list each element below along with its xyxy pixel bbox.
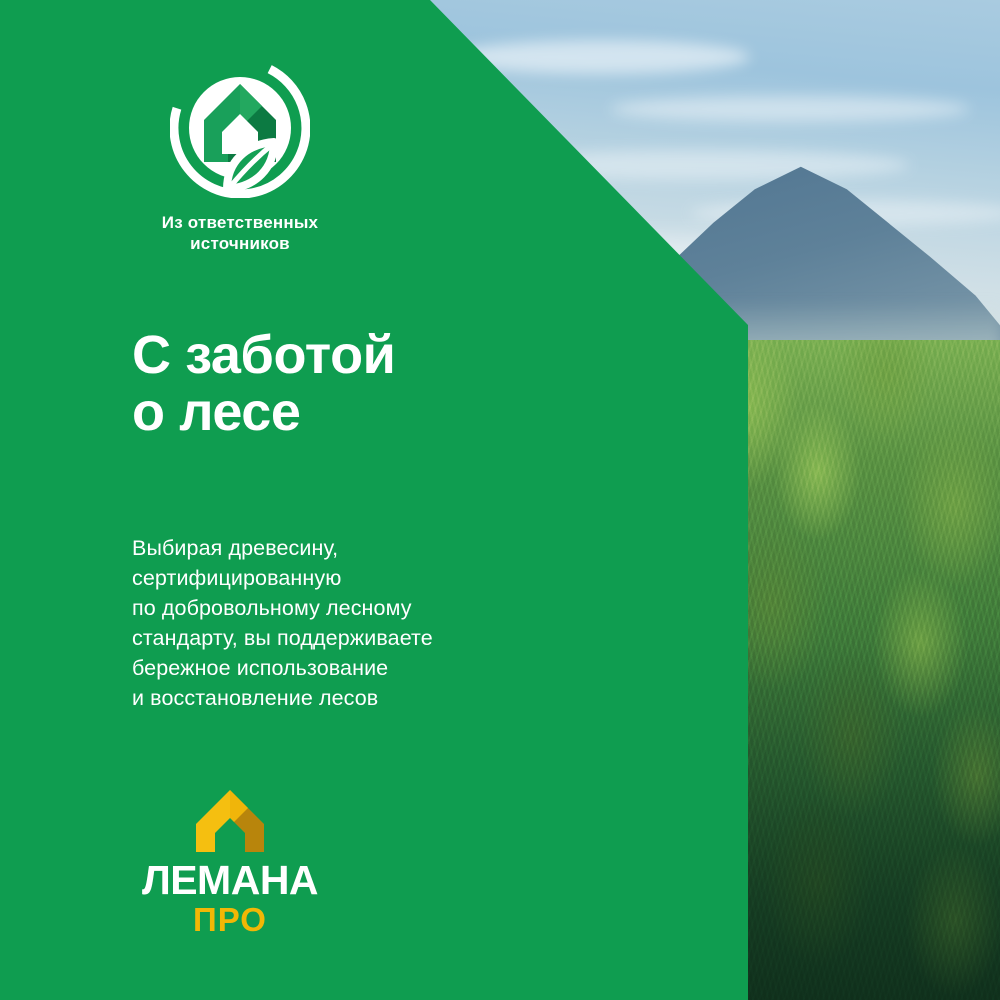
page-title: С заботой о лесе: [132, 327, 395, 441]
body-paragraph: Выбирая древесину, сертифицированную по …: [132, 533, 433, 714]
lemana-house-icon: [193, 788, 267, 854]
eco-caption-line-2: источников: [130, 233, 350, 254]
responsible-sources-logo-icon: [170, 58, 310, 198]
brand-logo: ЛЕМАНА ПРО: [130, 788, 330, 936]
brand-sub: ПРО: [130, 903, 330, 936]
content-area: Из ответственных источников С заботой о …: [0, 0, 748, 1000]
brand-name: ЛЕМАНА: [130, 860, 330, 901]
poster-root: Из ответственных источников С заботой о …: [0, 0, 1000, 1000]
eco-caption-line-1: Из ответственных: [130, 212, 350, 233]
eco-badge-caption: Из ответственных источников: [130, 212, 350, 254]
eco-badge: Из ответственных источников: [130, 58, 350, 254]
